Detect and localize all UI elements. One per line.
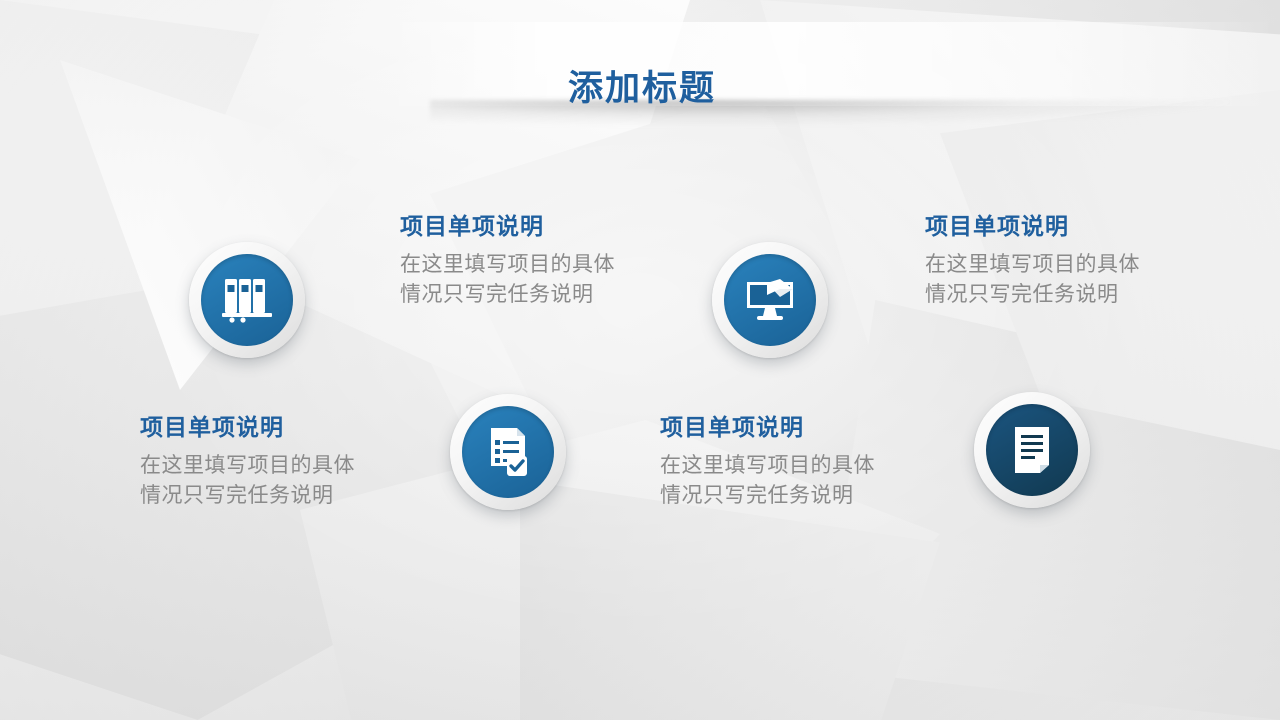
text-block-bottom-center: 项目单项说明 在这里填写项目的具体情况只写完任务说明 <box>660 408 890 511</box>
text-block-top-left: 项目单项说明 在这里填写项目的具体情况只写完任务说明 <box>400 207 630 310</box>
slide-canvas: 添加标题 <box>0 0 1280 720</box>
document-icon <box>1010 425 1054 475</box>
icon-circle-inner <box>201 254 293 346</box>
icon-circle-monitor-mail[interactable] <box>712 242 828 358</box>
item-heading: 项目单项说明 <box>925 207 1155 241</box>
item-body: 在这里填写项目的具体情况只写完任务说明 <box>925 250 1155 310</box>
checklist-icon <box>485 426 531 478</box>
text-block-left-bottom: 项目单项说明 在这里填写项目的具体情况只写完任务说明 <box>140 408 370 511</box>
title-area: 添加标题 <box>0 22 1280 108</box>
item-body: 在这里填写项目的具体情况只写完任务说明 <box>660 451 890 511</box>
icon-circle-document[interactable] <box>974 392 1090 508</box>
item-heading: 项目单项说明 <box>400 207 630 241</box>
icon-circle-binders[interactable] <box>189 242 305 358</box>
icon-circle-checklist[interactable] <box>450 394 566 510</box>
item-body: 在这里填写项目的具体情况只写完任务说明 <box>140 451 370 511</box>
item-heading: 项目单项说明 <box>140 408 370 442</box>
text-block-top-right: 项目单项说明 在这里填写项目的具体情况只写完任务说明 <box>925 207 1155 310</box>
icon-circle-inner <box>986 404 1078 496</box>
item-body: 在这里填写项目的具体情况只写完任务说明 <box>400 250 630 310</box>
item-heading: 项目单项说明 <box>660 408 890 442</box>
icon-circle-inner <box>724 254 816 346</box>
binders-icon <box>222 277 272 323</box>
icon-circle-inner <box>462 406 554 498</box>
page-title: 添加标题 <box>0 60 1280 111</box>
monitor-mail-icon <box>743 276 797 324</box>
